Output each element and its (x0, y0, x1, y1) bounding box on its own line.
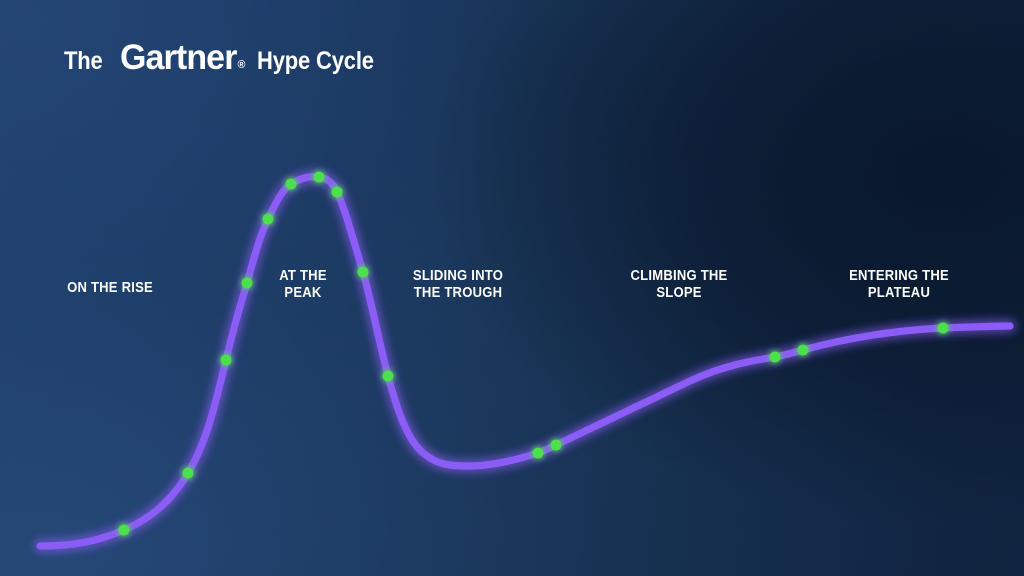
data-point-8[interactable] (332, 187, 343, 198)
hype-curve-glow (40, 177, 1010, 546)
data-point-3[interactable] (221, 355, 232, 366)
data-point-4[interactable] (242, 278, 253, 289)
data-point-2[interactable] (183, 468, 194, 479)
hype-cycle-infographic: The Gartner® Hype Cycle (0, 0, 1024, 576)
data-point-14[interactable] (798, 345, 809, 356)
stage-label-4: CLIMBING THE SLOPE (631, 268, 728, 302)
data-point-13[interactable] (770, 352, 781, 363)
data-point-7[interactable] (314, 172, 325, 183)
data-point-10[interactable] (383, 371, 394, 382)
stage-label-1: ON THE RISE (67, 280, 153, 297)
data-point-layer (119, 172, 949, 536)
stage-label-5: ENTERING THE PLATEAU (849, 268, 949, 302)
data-point-9[interactable] (358, 267, 369, 278)
hype-curve-line (40, 177, 1010, 546)
data-point-11[interactable] (533, 448, 544, 459)
stage-label-3: SLIDING INTO THE TROUGH (413, 268, 503, 302)
data-point-5[interactable] (263, 214, 274, 225)
stage-label-2: AT THE PEAK (279, 268, 327, 302)
data-point-12[interactable] (551, 440, 562, 451)
data-point-15[interactable] (938, 323, 949, 334)
data-point-1[interactable] (119, 525, 130, 536)
data-point-6[interactable] (286, 179, 297, 190)
data-point-glow-layer (119, 172, 948, 535)
